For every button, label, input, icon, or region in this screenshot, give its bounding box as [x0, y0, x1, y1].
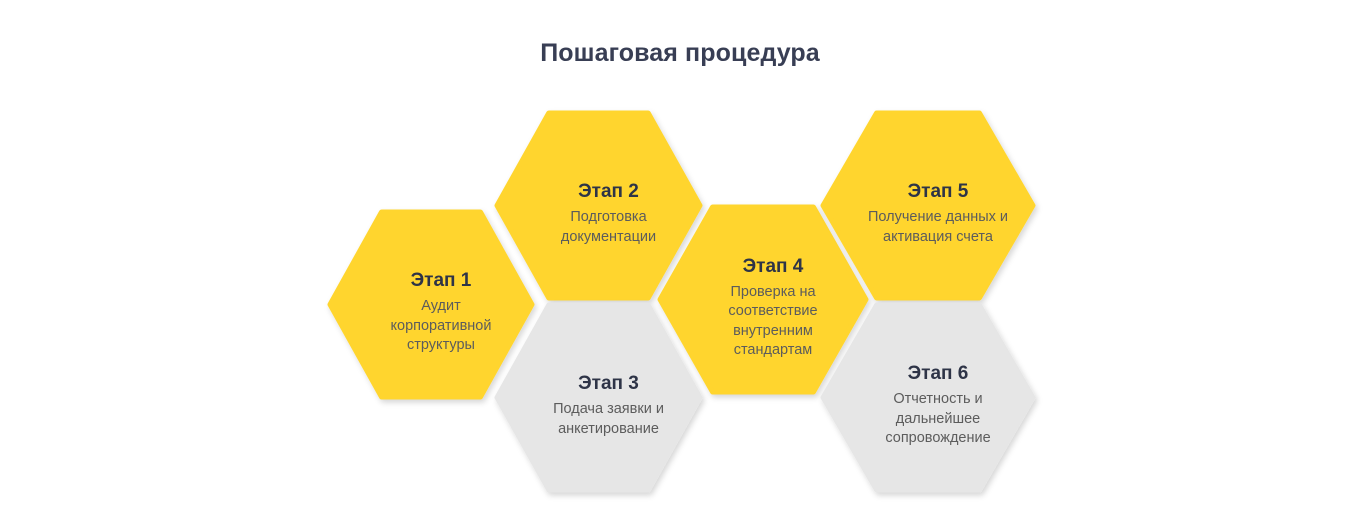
- hexagon-step-title: Этап 1: [411, 269, 472, 293]
- hexagon-step-5[interactable]: Этап 5Получение данных и активация счета: [823, 113, 1033, 298]
- hexagon-step-description: Проверка на соответствие внутренним стан…: [728, 283, 817, 361]
- hexagon-label: Этап 5Получение данных и активация счета: [833, 121, 1043, 306]
- hexagon-step-6[interactable]: Этап 6Отчетность и дальнейшее сопровожде…: [823, 305, 1033, 490]
- hexagon-step-description: Отчетность и дальнейшее сопровождение: [885, 390, 990, 449]
- hexagon-step-title: Этап 6: [908, 362, 969, 386]
- hexagon-step-description: Подготовка документации: [561, 208, 656, 247]
- page-title: Пошаговая процедура: [0, 36, 1360, 70]
- hexagon-step-title: Этап 5: [908, 180, 969, 204]
- hexagon-step-description: Подача заявки и анкетирование: [553, 400, 664, 439]
- hexagon-step-description: Получение данных и активация счета: [868, 208, 1008, 247]
- hexagon-step-title: Этап 2: [578, 180, 639, 204]
- process-infographic: Пошаговая процедура Этап 1Аудит корпорат…: [0, 0, 1360, 528]
- hexagon-label: Этап 6Отчетность и дальнейшее сопровожде…: [833, 313, 1043, 498]
- hexagon-step-title: Этап 3: [578, 372, 639, 396]
- hexagon-step-description: Аудит корпоративной структуры: [391, 297, 492, 356]
- hexagon-step-title: Этап 4: [743, 255, 804, 279]
